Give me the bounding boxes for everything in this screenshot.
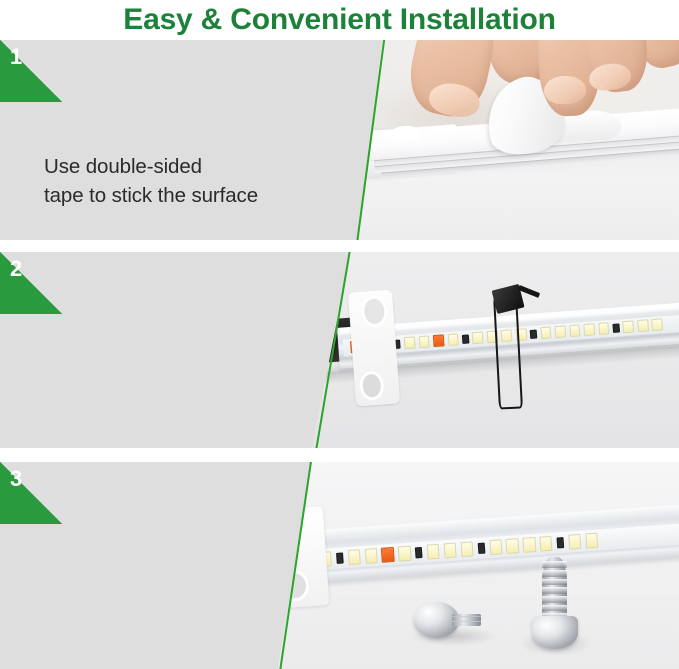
led-diode-white bbox=[398, 545, 411, 561]
led-diode-white bbox=[404, 337, 416, 350]
pcb-resistor bbox=[336, 552, 344, 564]
header-bar: Easy & Convenient Installation bbox=[0, 0, 679, 40]
step-number-1: 1 bbox=[10, 46, 22, 68]
led-diode-white bbox=[419, 336, 431, 349]
machine-screw bbox=[414, 599, 486, 645]
led-diode-red bbox=[381, 546, 394, 562]
step-3-photo bbox=[278, 462, 679, 669]
step-badge-1: 1 bbox=[0, 40, 62, 102]
led-diode-white bbox=[540, 535, 553, 551]
led-diode-white bbox=[523, 536, 536, 552]
pcb-resistor bbox=[415, 546, 423, 558]
led-diode-white bbox=[448, 334, 460, 347]
led-diode-white bbox=[568, 533, 581, 549]
led-diode-red bbox=[433, 335, 445, 348]
step-2-photo bbox=[312, 252, 679, 448]
led-diode-white bbox=[637, 320, 649, 333]
led-bar-nub bbox=[390, 125, 420, 141]
pcb-resistor bbox=[530, 329, 537, 339]
led-diode-white bbox=[652, 319, 664, 332]
mounting-bracket bbox=[278, 506, 330, 609]
pcb-resistor bbox=[462, 334, 469, 344]
step-number-2: 2 bbox=[10, 258, 22, 280]
led-diode-white bbox=[427, 543, 440, 559]
step-panel-1: 1 Use double-sided tape to stick the sur… bbox=[0, 40, 679, 240]
self-tapping-screw bbox=[531, 557, 579, 652]
step-badge-3: 3 bbox=[0, 462, 62, 524]
pcb-resistor bbox=[477, 542, 485, 554]
fingernail bbox=[544, 75, 587, 104]
led-diode-white bbox=[555, 326, 567, 339]
led-diode-white bbox=[364, 548, 377, 564]
led-diode-white bbox=[489, 539, 502, 555]
step-number-3: 3 bbox=[10, 468, 22, 490]
mounting-bracket bbox=[348, 290, 400, 407]
led-diode-white bbox=[460, 541, 473, 557]
led-diode-white bbox=[623, 321, 635, 334]
step-badge-2: 2 bbox=[0, 252, 62, 314]
step-panel-3: 3 Fix with included screws. bbox=[0, 462, 679, 669]
led-diode-white bbox=[569, 325, 581, 338]
led-diode-white bbox=[584, 324, 596, 337]
led-diode-white bbox=[598, 323, 610, 336]
led-diode-white bbox=[506, 538, 519, 554]
step-panel-2: 2 Use lashing tape to tie it to the plac… bbox=[0, 252, 679, 448]
page-title: Easy & Convenient Installation bbox=[123, 5, 555, 35]
led-diode-white bbox=[347, 549, 360, 565]
led-diode-white bbox=[472, 332, 484, 345]
led-diode-white bbox=[540, 327, 552, 340]
pcb-resistor bbox=[613, 323, 620, 333]
step-1-text: Use double-sided tape to stick the surfa… bbox=[44, 152, 258, 210]
pcb-resistor bbox=[557, 536, 565, 548]
infographic-page: Easy & Convenient Installation bbox=[0, 0, 679, 669]
step-1-photo bbox=[358, 40, 679, 240]
led-diode-white bbox=[585, 532, 598, 548]
led-diode-white bbox=[444, 542, 457, 558]
